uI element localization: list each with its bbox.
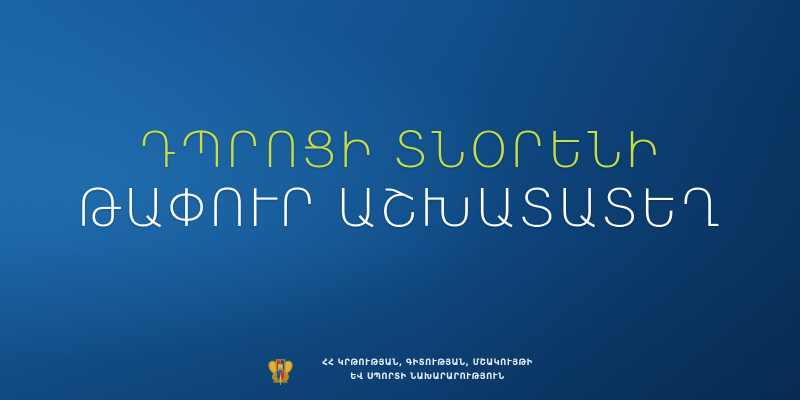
footer-bar: ՀՀ ԿՐԹՈՒԹՅԱՆ, ԳԻՏՈՒԹՅԱՆ, ՄՇԱԿՈՒՅԹԻ ԵՎ ՍՊ…: [0, 353, 800, 386]
promotional-banner: ԴՊՐՈՑԻ ՏՆՕՐԵՆԻ ԹԱՓՈՒՐ ԱՇԽԱՏԱՏԵՂ: [0, 0, 800, 400]
headline-primary: ԴՊՐՈՑԻ ՏՆՕՐԵՆԻ: [0, 126, 800, 175]
armenia-coat-of-arms-icon: [267, 353, 294, 386]
ministry-line-2: ԵՎ ՍՊՈՐՏԻ ՆԱԽԱՐԱՐՈՒԹՅՈՒՆ: [322, 370, 533, 383]
headline-block: ԴՊՐՈՑԻ ՏՆՕՐԵՆԻ ԹԱՓՈՒՐ ԱՇԽԱՏԱՏԵՂ: [0, 126, 800, 235]
ministry-line-1: ՀՀ ԿՐԹՈՒԹՅԱՆ, ԳԻՏՈՒԹՅԱՆ, ՄՇԱԿՈՒՅԹԻ: [322, 356, 533, 369]
headline-secondary: ԹԱՓՈՒՐ ԱՇԽԱՏԱՏԵՂ: [0, 183, 800, 235]
ministry-name: ՀՀ ԿՐԹՈՒԹՅԱՆ, ԳԻՏՈՒԹՅԱՆ, ՄՇԱԿՈՒՅԹԻ ԵՎ ՍՊ…: [322, 356, 533, 382]
